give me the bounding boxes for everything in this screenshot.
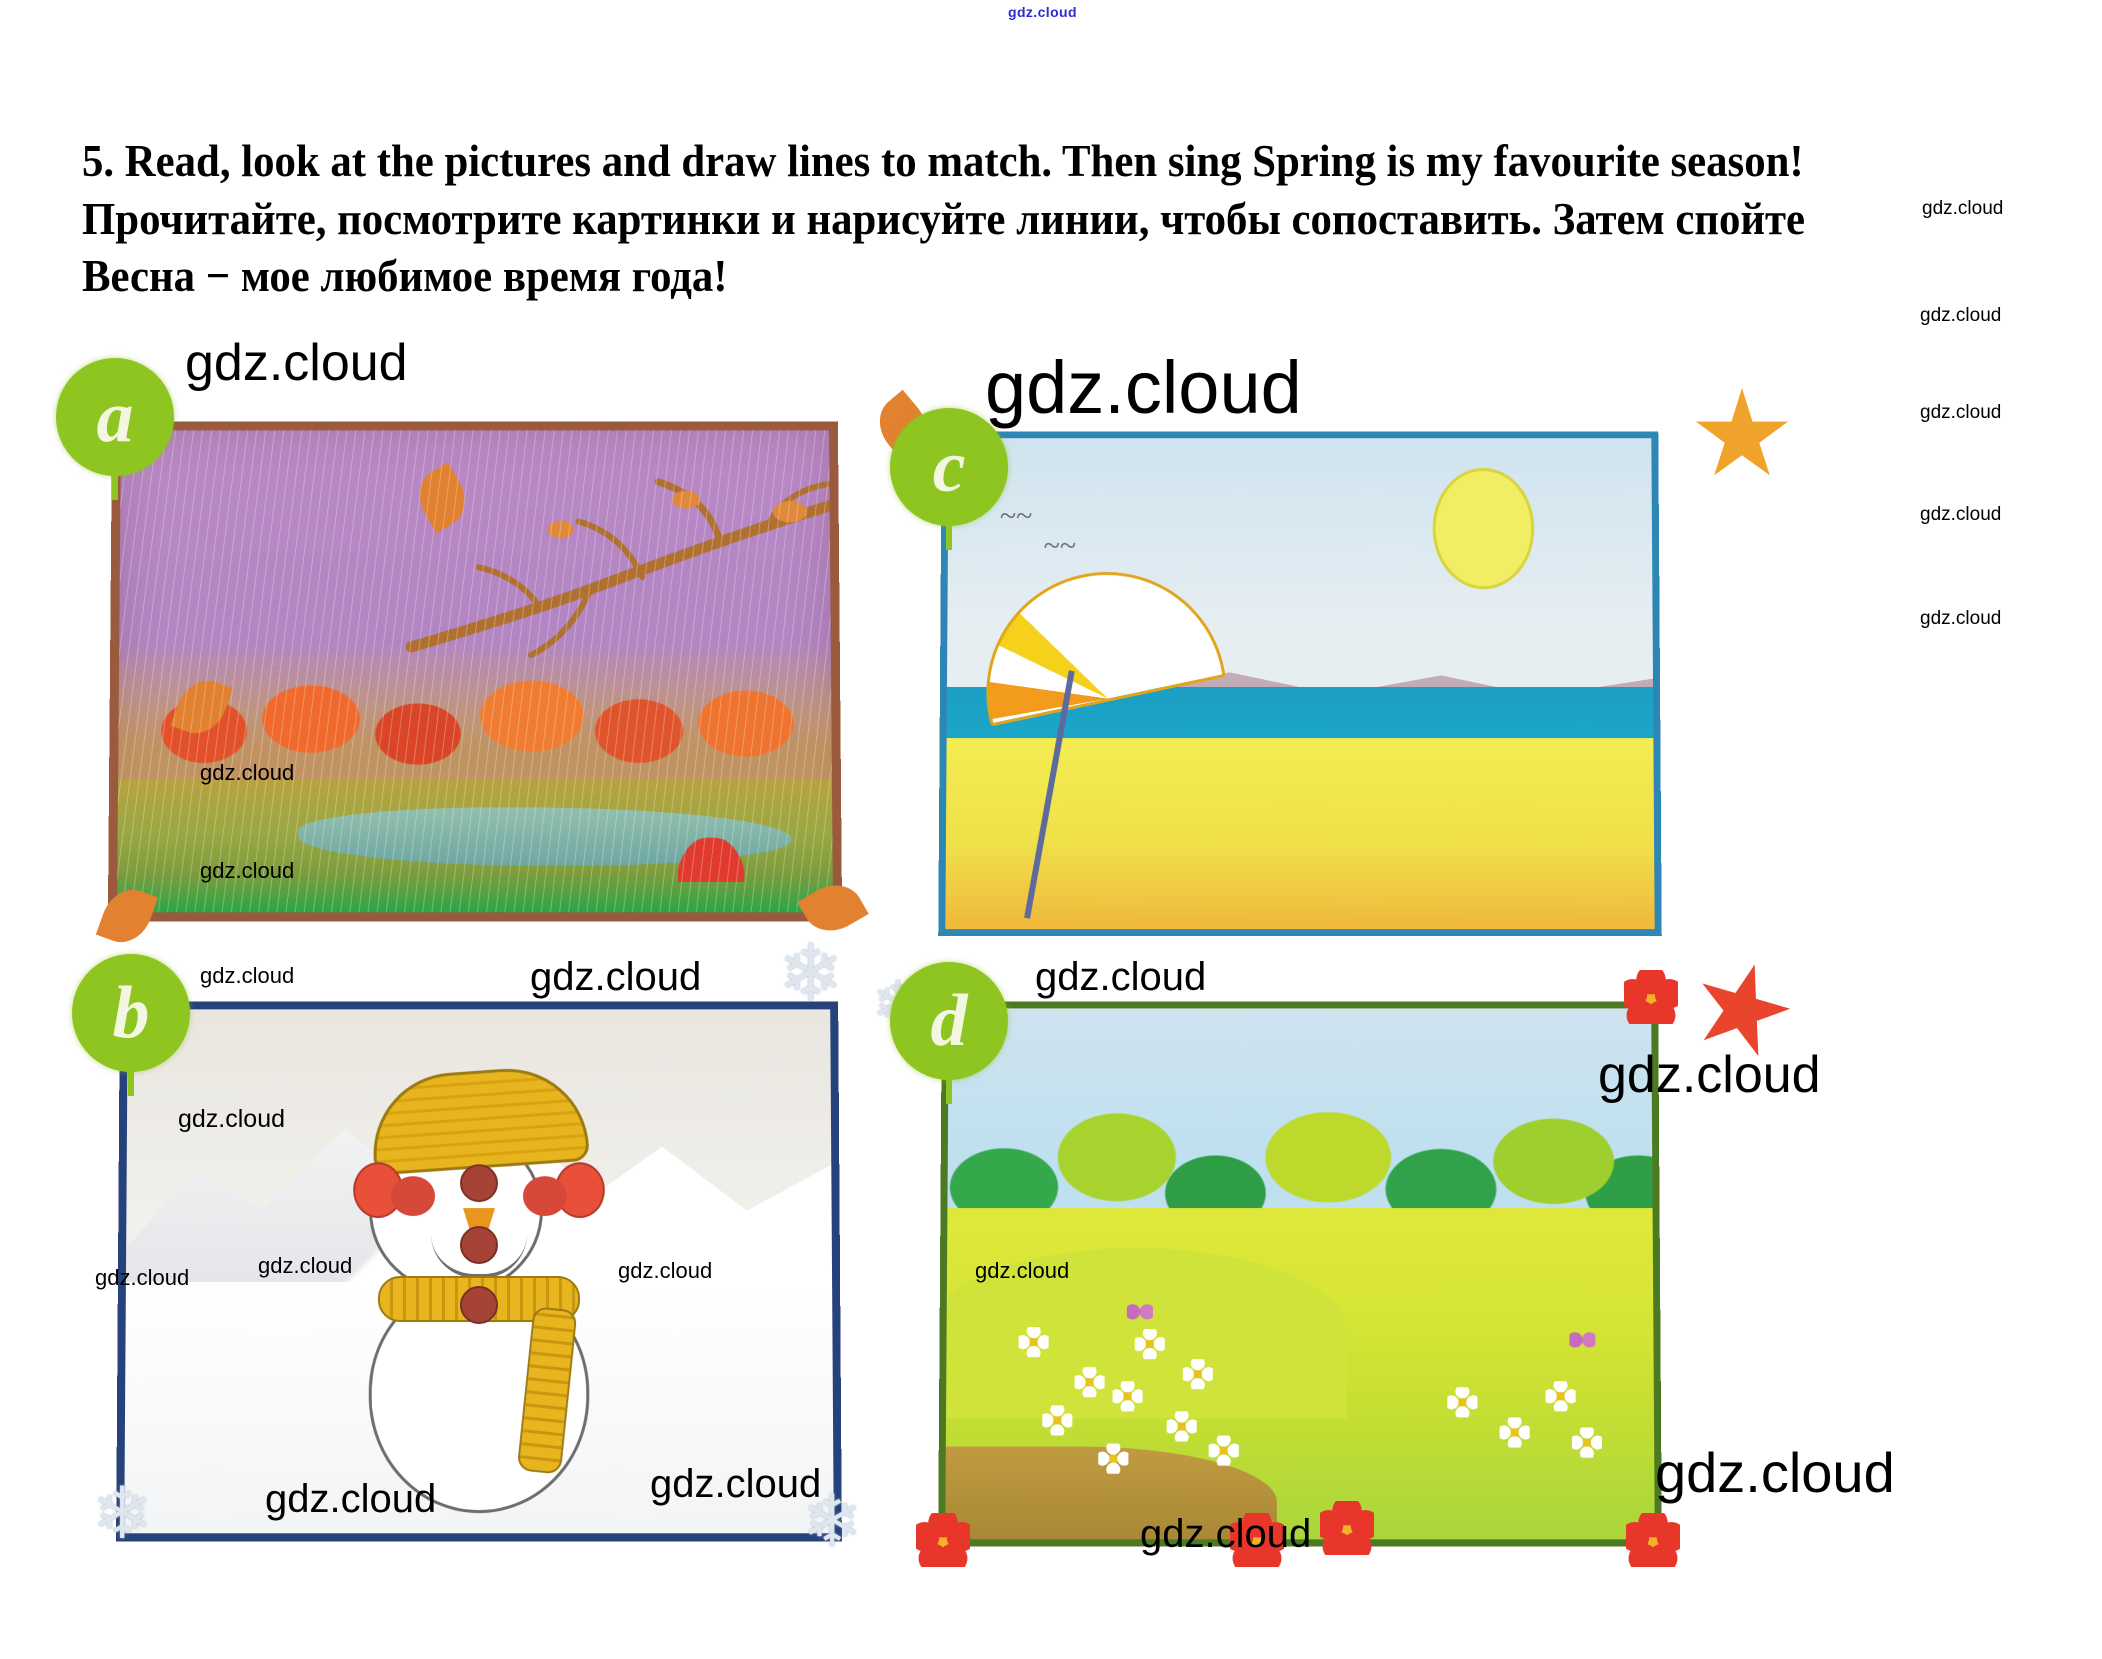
snowman-eye-right — [523, 1176, 567, 1216]
watermark-text: gdz.cloud — [200, 963, 294, 989]
badge-stem — [112, 454, 118, 500]
daisy-icon — [1546, 1381, 1576, 1411]
badge-stem — [128, 1050, 134, 1096]
picture-label-d-text: d — [931, 984, 968, 1058]
picture-label-a-text: a — [97, 380, 134, 454]
butterfly-icon — [1569, 1331, 1595, 1353]
picture-a-autumn[interactable]: a — [110, 420, 840, 920]
picture-label-b[interactable]: b — [72, 954, 190, 1072]
daisy-icon — [1167, 1411, 1197, 1441]
umbrella-canopy — [965, 550, 1226, 727]
snowflake-icon: ❄ — [802, 1486, 862, 1558]
daisy-icon — [1135, 1329, 1165, 1359]
snowman-hat — [368, 1063, 590, 1175]
watermark-text: gdz.cloud — [1920, 608, 2001, 630]
daisy-icon — [1019, 1327, 1049, 1357]
rain-overlay — [117, 430, 833, 912]
watermark-text: gdz.cloud — [185, 333, 408, 393]
picture-b-frame — [116, 1001, 842, 1541]
daisy-icon — [1209, 1435, 1239, 1465]
red-flower-icon — [1624, 970, 1678, 1024]
exercise-instruction: 5. Read, look at the pictures and draw l… — [82, 132, 1882, 305]
seagull-icon: ~~ — [1044, 529, 1077, 563]
daisy-icon — [1447, 1387, 1477, 1417]
watermark-text: gdz.cloud — [1008, 4, 1077, 20]
daisy-icon — [1042, 1405, 1072, 1435]
watermark-text: gdz.cloud — [985, 345, 1302, 430]
watermark-text: gdz.cloud — [530, 955, 701, 1000]
red-flower-icon — [1320, 1501, 1374, 1555]
picture-label-c-text: c — [933, 430, 966, 504]
snowman-button — [460, 1164, 498, 1202]
butterfly-icon — [1127, 1303, 1153, 1325]
daisy-icon — [1098, 1444, 1128, 1474]
daisy-icon — [1572, 1427, 1602, 1457]
watermark-text: gdz.cloud — [1920, 402, 2001, 424]
badge-stem — [946, 1058, 952, 1104]
snowman-icon — [368, 1128, 589, 1513]
daisy-icon — [1074, 1367, 1104, 1397]
picture-label-d[interactable]: d — [890, 962, 1008, 1080]
watermark-text: gdz.cloud — [1920, 305, 2001, 327]
watermark-text: gdz.cloud — [1920, 504, 2001, 526]
beach-umbrella-icon — [975, 573, 1215, 703]
picture-a-frame — [108, 422, 842, 922]
snowflake-icon: ❄ — [778, 934, 843, 1012]
snowman-head — [369, 1128, 543, 1294]
picture-d-spring[interactable]: d — [940, 1000, 1660, 1545]
picture-c-summer[interactable]: ~~ ~~ c — [940, 430, 1660, 935]
picture-label-b-text: b — [113, 976, 150, 1050]
red-flower-icon — [1230, 1513, 1284, 1567]
daisy-icon — [1500, 1417, 1530, 1447]
red-flower-icon — [1626, 1513, 1680, 1567]
snowman-button — [460, 1286, 498, 1324]
daisy-icon — [1112, 1381, 1142, 1411]
sun-icon — [1432, 468, 1534, 589]
watermark-text: gdz.cloud — [1922, 198, 2003, 220]
daisy-icon — [1183, 1359, 1213, 1389]
snowflake-icon: ❄ — [92, 1478, 152, 1550]
picture-c-frame: ~~ ~~ — [938, 431, 1662, 936]
red-flower-icon — [916, 1513, 970, 1567]
picture-d-frame — [938, 1001, 1662, 1546]
watermark-text: gdz.cloud — [1655, 1440, 1895, 1505]
snowman-button — [460, 1226, 498, 1264]
picture-b-winter[interactable]: b ❄ ❄ ❄ ❄ — [118, 1000, 840, 1540]
seagull-icon: ~~ — [1000, 500, 1033, 534]
watermark-text: gdz.cloud — [1035, 955, 1206, 1000]
picture-label-a[interactable]: a — [56, 358, 174, 476]
picture-label-c[interactable]: c — [890, 408, 1008, 526]
badge-stem — [946, 504, 952, 550]
snowman-eye-left — [391, 1176, 435, 1216]
